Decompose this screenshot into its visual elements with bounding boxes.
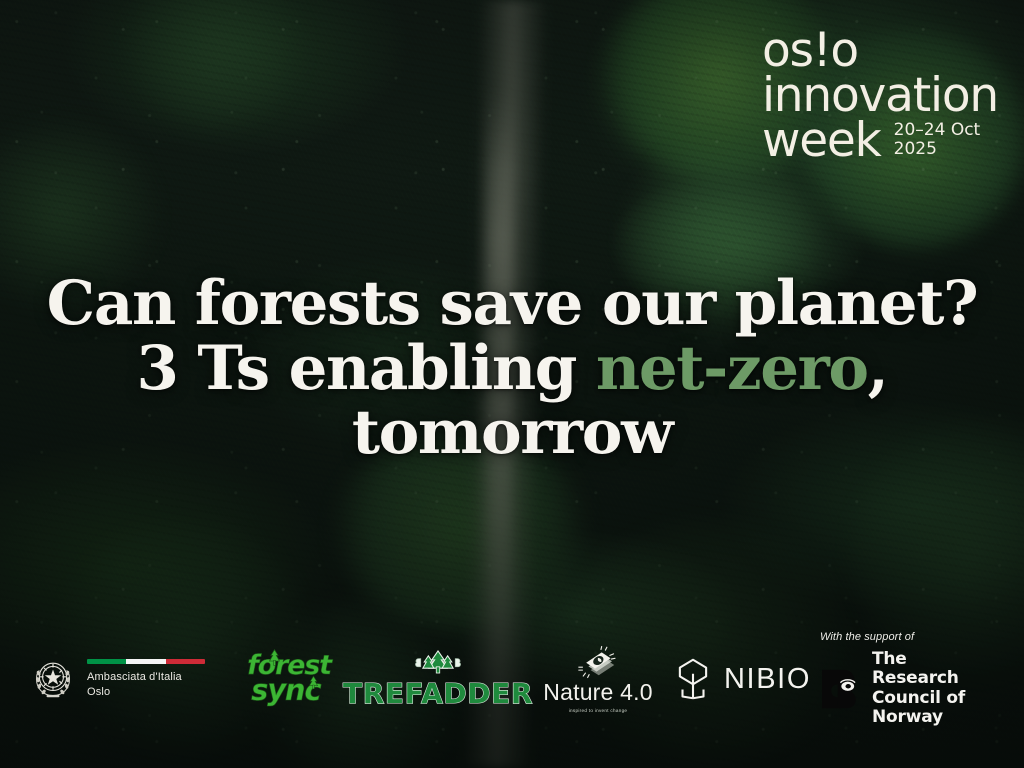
research-council-mark-icon [818,667,861,711]
headline-line-2: 3 Ts enabling net-zero, [26,337,998,402]
nature40-chip-leaf-icon [575,645,621,679]
partner-logo-nature40: Nature 4.0 inspired to invent change [528,645,668,713]
research-council-wordmark: The Research Council of Norway [872,650,990,728]
forestsync-tree-icon-small [307,675,320,690]
trefadder-wordmark: TREFADDER [343,677,533,710]
support-prefix-label: With the support of [820,631,914,643]
oiw-logo-line-oslo: os!o [762,28,998,73]
oiw-logo-line-week: week [762,118,881,163]
italian-flag-icon [87,659,205,664]
headline-line-3: tomorrow [26,401,998,466]
slide-canvas: os!o innovation week 20–24 Oct 2025 Can … [0,0,1024,768]
emblem-ribbon [47,695,60,697]
partner-logo-forestsync: forest sync [230,654,348,703]
oiw-event-dates: 20–24 Oct 2025 [894,121,981,163]
trefadder-trees-icon [407,649,469,675]
partner-logo-bar: Ambasciata d'Italia Oslo forest sync [0,642,1024,716]
partner-logo-nibio: NIBIO [668,658,818,700]
headline-block: Can forests save our planet? 3 Ts enabli… [0,272,1024,466]
emblem-star [46,670,61,684]
nibio-wordmark: NIBIO [724,663,811,696]
nature40-wordmark: Nature 4.0 [543,681,652,704]
partner-logo-italian-embassy: Ambasciata d'Italia Oslo [30,656,230,702]
italian-republic-emblem-icon [30,656,76,702]
headline-line-2-prefix: 3 Ts enabling [137,333,596,404]
embassy-name-line1: Ambasciata d'Italia [87,671,182,683]
embassy-name: Ambasciata d'Italia Oslo [87,670,205,699]
partner-logo-trefadder: TREFADDER [348,649,528,710]
headline-line-1: Can forests save our planet? [26,272,998,337]
oslo-innovation-week-logo: os!o innovation week 20–24 Oct 2025 [762,28,998,163]
headline-line-2-suffix: , [868,333,888,404]
nature40-tagline: inspired to invent change [569,708,628,713]
nibio-cube-icon [675,658,711,700]
partner-logo-research-council: With the support of The Research Council… [818,631,994,728]
oiw-logo-line-innovation: innovation [762,73,998,118]
forestsync-tree-icon [267,649,282,666]
headline-highlight-net-zero: net-zero [596,333,868,404]
embassy-city: Oslo [87,686,110,698]
